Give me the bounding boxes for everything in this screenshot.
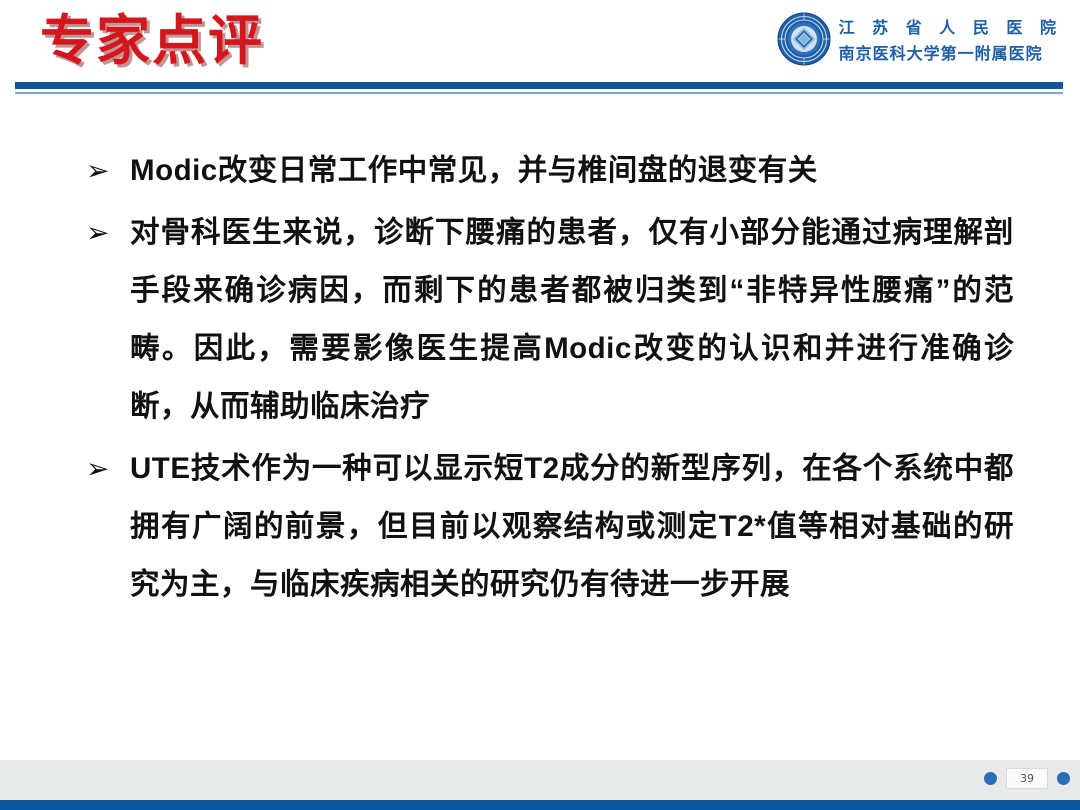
bullet-list: ➢ Modic改变日常工作中常见，并与椎间盘的退变有关 ➢ 对骨科医生来说，诊断… <box>84 142 1014 618</box>
list-item-text: 对骨科医生来说，诊断下腰痛的患者，仅有小部分能通过病理解剖手段来确诊病因，而剩下… <box>130 204 1014 436</box>
list-item: ➢ Modic改变日常工作中常见，并与椎间盘的退变有关 <box>84 142 1014 200</box>
arrow-bullet-icon: ➢ <box>84 142 130 200</box>
list-item-text: UTE技术作为一种可以显示短T2成分的新型序列，在各个系统中都拥有广阔的前景，但… <box>130 440 1014 614</box>
list-item: ➢ 对骨科医生来说，诊断下腰痛的患者，仅有小部分能通过病理解剖手段来确诊病因，而… <box>84 204 1014 436</box>
footer-band <box>0 760 1080 802</box>
list-item-text: Modic改变日常工作中常见，并与椎间盘的退变有关 <box>130 142 1014 200</box>
hospital-name-line2: 南京医科大学第一附属医院 <box>839 40 1062 64</box>
arrow-bullet-icon: ➢ <box>84 440 130 498</box>
list-item: ➢ UTE技术作为一种可以显示短T2成分的新型序列，在各个系统中都拥有广阔的前景… <box>84 440 1014 614</box>
hospital-name-line1: 江 苏 省 人 民 医 院 <box>839 14 1062 38</box>
arrow-bullet-icon: ➢ <box>84 204 130 262</box>
hospital-name: 江 苏 省 人 民 医 院 南京医科大学第一附属医院 <box>839 14 1062 64</box>
hospital-logo: 江 苏 省 人 民 医 院 南京医科大学第一附属医院 <box>777 12 1062 66</box>
hospital-emblem-icon <box>777 12 831 66</box>
nav-dot-previous[interactable] <box>984 772 997 785</box>
footer-accent-bar <box>0 800 1080 810</box>
page-title: 专家点评 <box>40 8 264 76</box>
page-number-box: 39 <box>1006 768 1048 789</box>
slide-canvas: 专家点评 <box>0 0 1080 810</box>
nav-dot-next[interactable] <box>1057 772 1070 785</box>
title-divider-thin <box>15 92 1063 94</box>
footer-navigation: 39 <box>984 768 1070 789</box>
title-divider-thick <box>15 82 1063 89</box>
